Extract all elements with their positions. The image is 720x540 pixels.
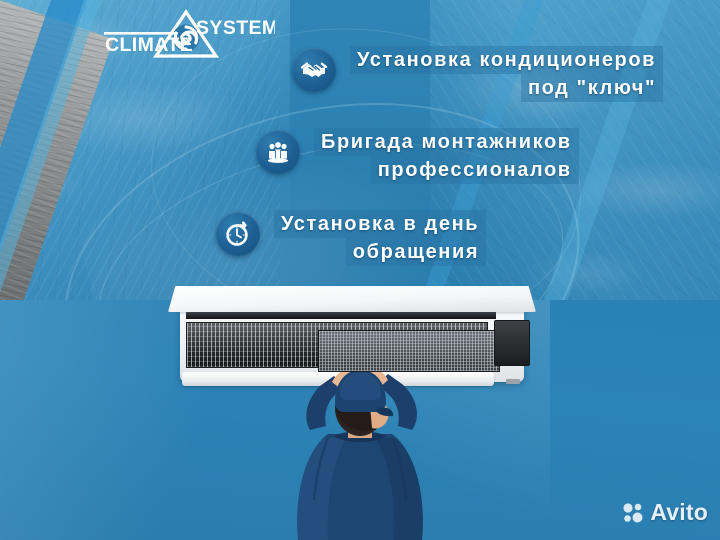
- fast-clock-icon: [216, 212, 260, 256]
- feature-item-turnkey-installation: Установка кондиционеров под "ключ": [0, 46, 720, 102]
- feature-item-same-day-installation: Установка в день обращения: [0, 210, 720, 266]
- technician-figure: [236, 372, 484, 540]
- feature-text-same-day-installation: Установка в день обращения: [274, 210, 486, 266]
- feature-text-professional-team: Бригада монтажников профессионалов: [314, 128, 579, 184]
- avito-wordmark: Avito: [650, 499, 708, 526]
- feature-line: профессионалов: [371, 156, 579, 184]
- ac-filter-panel: [318, 330, 500, 372]
- avito-dots-logo-icon: [622, 502, 644, 524]
- avito-watermark: Avito: [622, 499, 708, 526]
- feature-line: Бригада монтажников: [314, 128, 579, 156]
- ac-electronics-box: [494, 320, 530, 366]
- advertisement-banner: CLIMATE SYSTEMS Установка кондиционеров …: [0, 0, 720, 540]
- feature-line: обращения: [346, 238, 486, 266]
- feature-text-turnkey-installation: Установка кондиционеров под "ключ": [350, 46, 663, 102]
- ac-front-cover: [168, 286, 536, 312]
- handshake-icon: [292, 48, 336, 92]
- feature-item-professional-team: Бригада монтажников профессионалов: [0, 128, 720, 184]
- feature-line: под "ключ": [521, 74, 663, 102]
- logo-text-systems: SYSTEMS: [196, 17, 275, 39]
- feature-line: Установка в день: [274, 210, 486, 238]
- ac-badge: [506, 379, 520, 384]
- group-of-people-icon: [256, 130, 300, 174]
- feature-line: Установка кондиционеров: [350, 46, 663, 74]
- feature-list: Установка кондиционеров под "ключ": [0, 46, 720, 292]
- technician-illustration: [236, 372, 484, 540]
